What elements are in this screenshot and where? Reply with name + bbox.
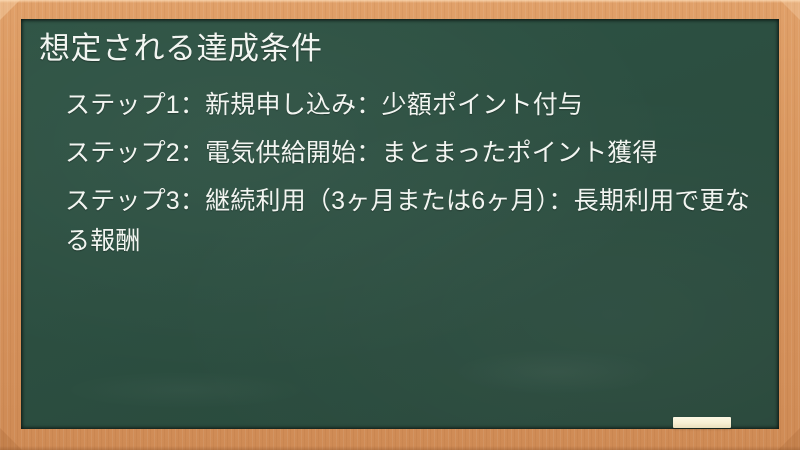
frame-bottom-shadow: [0, 446, 800, 450]
slide-title: 想定される達成条件: [31, 27, 753, 71]
frame-miter-top-right: [780, 0, 800, 20]
chalk-stick: [673, 417, 731, 428]
slide-bullet-list: ステップ1：新規申し込み：少額ポイント付与 ステップ2：電気供給開始：まとまった…: [31, 85, 753, 261]
chalkboard-slide: 想定される達成条件 ステップ1：新規申し込み：少額ポイント付与 ステップ2：電気…: [0, 0, 800, 450]
bullet-item-step-3: ステップ3：継続利用（3ヶ月または6ヶ月）：長期利用で更なる報酬: [31, 181, 753, 261]
frame-top-highlight: [0, 0, 800, 3]
chalkboard-surface: 想定される達成条件 ステップ1：新規申し込み：少額ポイント付与 ステップ2：電気…: [21, 19, 779, 429]
slide-content: 想定される達成条件 ステップ1：新規申し込み：少額ポイント付与 ステップ2：電気…: [21, 19, 779, 429]
bullet-item-step-2: ステップ2：電気供給開始：まとまったポイント獲得: [31, 133, 753, 173]
bullet-item-step-1: ステップ1：新規申し込み：少額ポイント付与: [31, 85, 753, 125]
frame-miter-top-left: [0, 0, 20, 20]
